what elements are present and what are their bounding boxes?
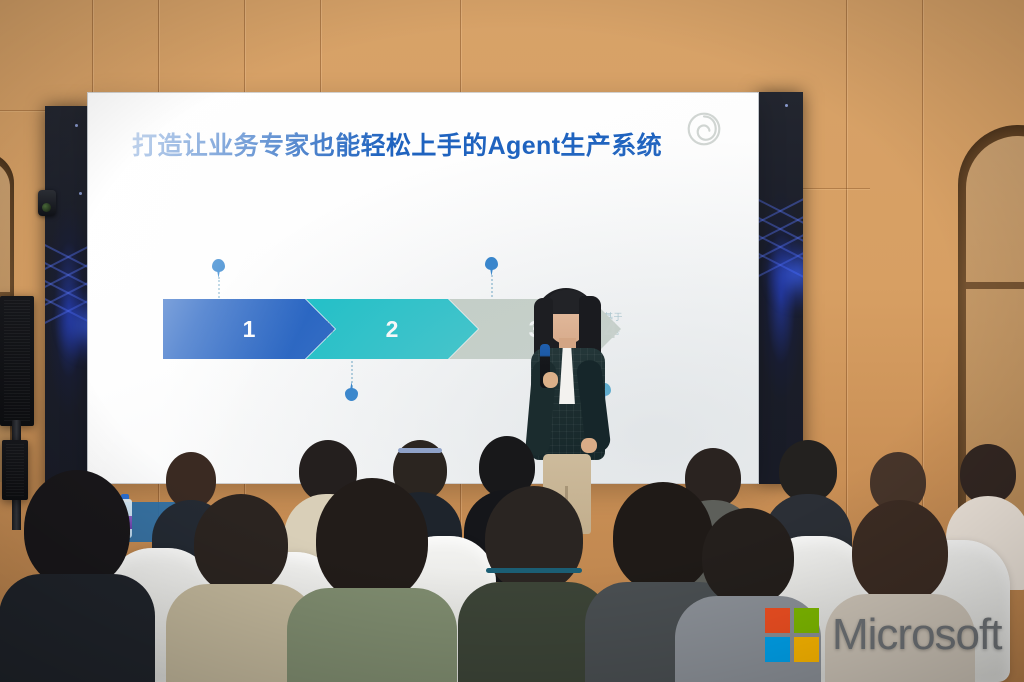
pillar-highlight-dot xyxy=(79,192,82,195)
alcove-shelf xyxy=(966,282,1024,289)
callout-step-2-marker xyxy=(345,383,358,401)
audience-head xyxy=(702,508,794,606)
audience-body xyxy=(0,574,155,682)
audience-head xyxy=(960,444,1016,504)
audience-head xyxy=(779,440,837,502)
audience-head xyxy=(485,486,583,592)
led-pillar-right xyxy=(757,92,803,484)
ms-tile-blue xyxy=(765,637,790,662)
audience-person-foreground xyxy=(302,478,442,682)
audience-body xyxy=(287,588,457,682)
led-pillar-left xyxy=(45,106,91,498)
audience-person-foreground xyxy=(472,486,596,682)
presenter-hand-left xyxy=(543,372,558,388)
audience-hairband xyxy=(398,448,442,453)
pillar-highlight-dot xyxy=(785,104,788,107)
ms-tile-green xyxy=(794,608,819,633)
microsoft-logo-icon xyxy=(765,608,819,662)
microsoft-watermark: Microsoft xyxy=(765,608,1001,662)
microsoft-wordmark: Microsoft xyxy=(832,610,1001,660)
callout-step-3-marker xyxy=(485,257,498,275)
audience-head xyxy=(316,478,428,602)
callout-step-1-marker xyxy=(212,259,225,277)
speaker-grill xyxy=(4,300,30,422)
slide-title: 打造让业务专家也能轻松上手的Agent生产系统 xyxy=(132,126,662,162)
audience-head xyxy=(852,500,948,604)
audience-person-foreground xyxy=(12,470,142,682)
process-step-2-number: 2 xyxy=(386,316,399,343)
presenter-hand-right xyxy=(581,438,597,453)
projection-screen: 打造让业务专家也能轻松上手的Agent生产系统 Agent 自主拆解与 专家交互… xyxy=(88,93,758,483)
ms-tile-yellow xyxy=(794,637,819,662)
pillar-highlight-dot xyxy=(75,124,78,127)
audience-glasses-arm xyxy=(486,568,582,573)
screenshot-root: 打造让业务专家也能轻松上手的Agent生产系统 Agent 自主拆解与 专家交互… xyxy=(0,0,1024,682)
audience-person-foreground xyxy=(180,494,302,682)
process-step-1-number: 1 xyxy=(243,316,256,343)
process-step-1: 1 xyxy=(163,299,335,359)
ms-tile-red xyxy=(765,608,790,633)
audience-head xyxy=(24,470,130,588)
spiral-brand-logo xyxy=(686,111,722,147)
audience-head xyxy=(194,494,288,594)
pa-speaker xyxy=(0,296,34,426)
pillar-camera xyxy=(38,190,56,216)
